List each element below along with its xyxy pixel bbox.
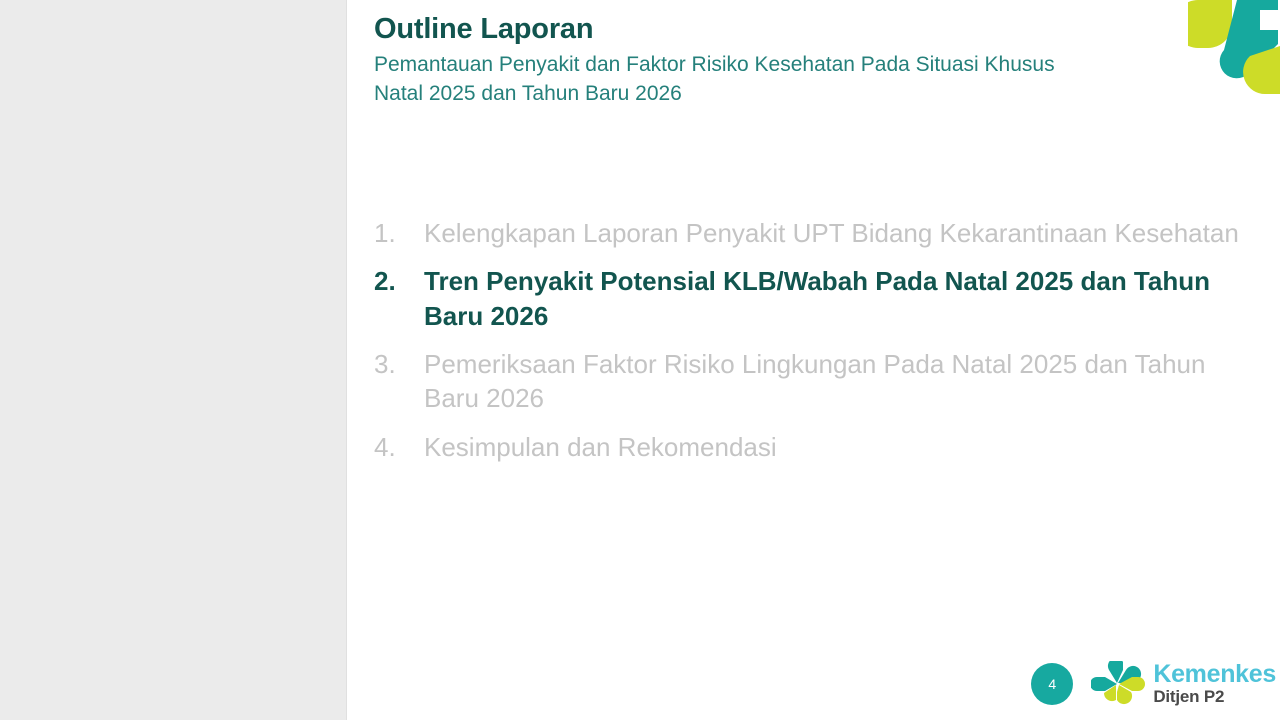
- page-subtitle-line-1: Pemantauan Penyakit dan Faktor Risiko Ke…: [374, 51, 1164, 80]
- brand-subtitle: Ditjen P2: [1153, 687, 1276, 707]
- outline-item-2-label: Tren Penyakit Potensial KLB/Wabah Pada N…: [424, 264, 1224, 333]
- outline-item-4-number: 4.: [374, 430, 424, 464]
- page-subtitle: Pemantauan Penyakit dan Faktor Risiko Ke…: [374, 51, 1164, 109]
- slide-header: Outline Laporan Pemantauan Penyakit dan …: [374, 14, 1164, 109]
- outline-item-2-number: 2.: [374, 264, 424, 298]
- kemenkes-flower-icon: [1091, 661, 1145, 707]
- brand-name: Kemenkes: [1153, 661, 1276, 687]
- outline-list: 1. Kelengkapan Laporan Penyakit UPT Bida…: [374, 216, 1254, 464]
- outline-item-2[interactable]: 2. Tren Penyakit Potensial KLB/Wabah Pad…: [374, 264, 1254, 333]
- kemenkes-corner-petals-icon: [1188, 0, 1280, 95]
- page-number-badge: 4: [1031, 663, 1073, 705]
- slide-canvas: Outline Laporan Pemantauan Penyakit dan …: [0, 0, 1280, 720]
- outline-item-4-label: Kesimpulan dan Rekomendasi: [424, 430, 1254, 464]
- outline-item-1[interactable]: 1. Kelengkapan Laporan Penyakit UPT Bida…: [374, 216, 1254, 250]
- left-gray-panel: [0, 0, 347, 720]
- page-subtitle-line-2: Natal 2025 dan Tahun Baru 2026: [374, 80, 1164, 109]
- outline-item-1-number: 1.: [374, 216, 424, 250]
- outline-item-4[interactable]: 4. Kesimpulan dan Rekomendasi: [374, 430, 1254, 464]
- outline-item-1-label: Kelengkapan Laporan Penyakit UPT Bidang …: [424, 216, 1254, 250]
- brand-lockup: Kemenkes Ditjen P2: [1153, 661, 1280, 707]
- slide-footer: 4 Kemenkes Ditjen P2: [1031, 656, 1280, 712]
- outline-item-3-label: Pemeriksaan Faktor Risiko Lingkungan Pad…: [424, 347, 1254, 416]
- outline-item-3-number: 3.: [374, 347, 424, 381]
- page-title: Outline Laporan: [374, 14, 1164, 46]
- outline-item-3[interactable]: 3. Pemeriksaan Faktor Risiko Lingkungan …: [374, 347, 1254, 416]
